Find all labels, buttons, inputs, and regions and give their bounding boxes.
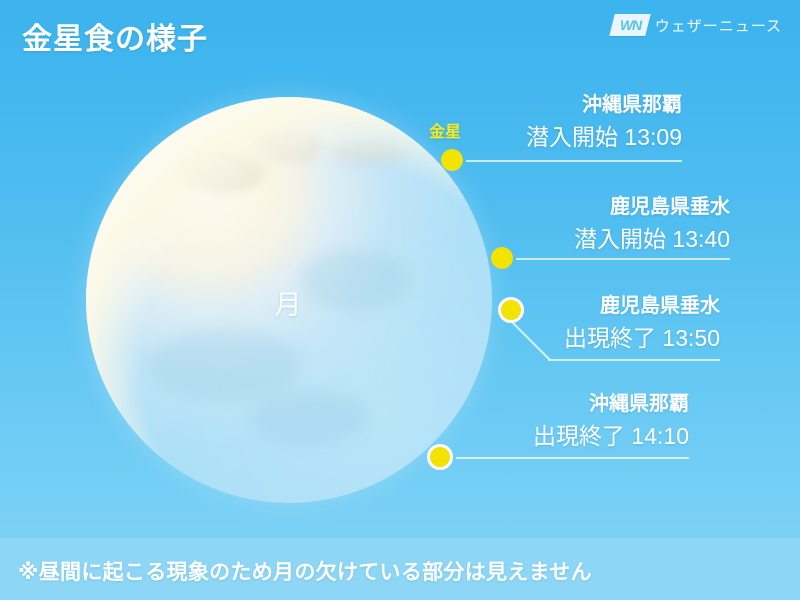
callout-rule-3 [548, 359, 720, 361]
callout-1: 沖縄県那覇 潜入開始 13:09 [382, 88, 682, 152]
callout-rule-1 [466, 160, 682, 162]
callout-event: 出現終了 14:10 [389, 417, 689, 451]
infographic-canvas: 金星食の様子 WN ウェザーニュース 月 金星 沖縄県那覇 潜入開始 13:09… [0, 0, 800, 600]
footer-note: ※昼間に起こる現象のため月の欠けている部分は見えません [18, 556, 592, 586]
callout-place: 鹿児島県垂水 [420, 289, 720, 318]
callout-4: 沖縄県那覇 出現終了 14:10 [389, 387, 689, 451]
callout-event: 出現終了 13:50 [420, 319, 720, 353]
callout-event: 潜入開始 13:40 [430, 220, 730, 254]
callout-event: 潜入開始 13:09 [382, 118, 682, 152]
callout-place: 沖縄県那覇 [389, 387, 689, 416]
callout-rule-4 [456, 457, 689, 459]
moon-label: 月 [275, 283, 302, 322]
callout-3: 鹿児島県垂水 出現終了 13:50 [420, 289, 720, 353]
callout-place: 鹿児島県垂水 [430, 190, 730, 219]
callout-rule-2 [516, 258, 730, 260]
callout-place: 沖縄県那覇 [382, 88, 682, 117]
venus-dot-1 [441, 149, 463, 171]
callout-2: 鹿児島県垂水 潜入開始 13:40 [430, 190, 730, 254]
